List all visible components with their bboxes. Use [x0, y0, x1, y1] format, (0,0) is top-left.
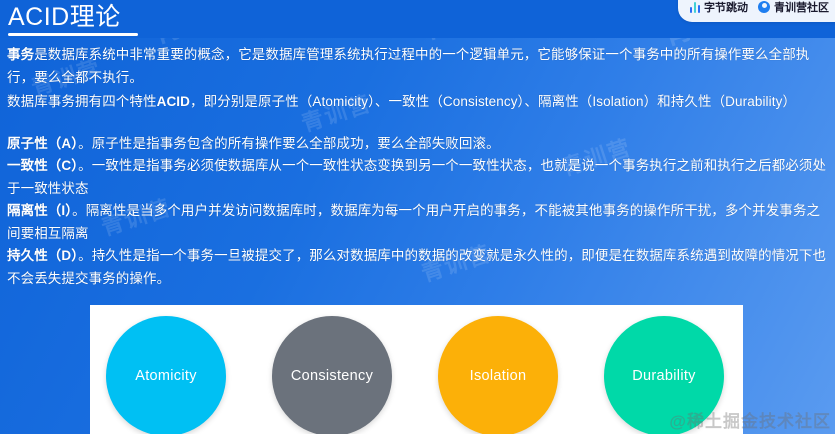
paragraph-text: 。隔离性是当多个用户并发访问数据库时，数据库为每一个用户开启的事务，不能被其他事… [7, 203, 820, 241]
paragraph-lead: 原子性（A） [7, 136, 78, 151]
brand-badge-group: 字节跳动 青训营社区 [678, 0, 835, 22]
title-underline [8, 33, 138, 36]
paragraph-lead: 隔离性（I） [7, 203, 72, 218]
bar-chart-icon [690, 1, 701, 13]
paragraph-text: 是数据库系统中非常重要的概念，它是数据库管理系统执行过程中的一个逻辑单元，它能够… [7, 47, 809, 85]
paragraph-lead: 一致性（C） [7, 158, 78, 173]
acid-circle-group: Atomicity Consistency Isolation Durabili… [90, 305, 743, 434]
paragraph-text: 。原子性是指事务包含的所有操作要么全部成功，要么全部失败回滚。 [78, 136, 500, 151]
paragraph-isolation: 隔离性（I）。隔离性是当多个用户并发访问数据库时，数据库为每一个用户开启的事务，… [7, 200, 829, 245]
circle-label: Isolation [470, 368, 527, 384]
diagram-watermark: @稀土掘金技术社区 [669, 407, 831, 432]
slide-header: ACID理论 字节跳动 青训营社区 [0, 0, 835, 38]
paragraph-intro: 事务是数据库系统中非常重要的概念，它是数据库管理系统执行过程中的一个逻辑单元，它… [7, 44, 829, 89]
acid-diagram-panel: Atomicity Consistency Isolation Durabili… [90, 305, 743, 434]
slide-body: 事务是数据库系统中非常重要的概念，它是数据库管理系统执行过程中的一个逻辑单元，它… [7, 44, 829, 290]
circle-atomicity[interactable]: Atomicity [106, 316, 226, 434]
circle-isolation[interactable]: Isolation [438, 316, 558, 434]
slide-root: 青训营 青训营 青训营 青训营 青训营 青训营 青训营 青训营 稀土掘金 稀土掘… [0, 0, 835, 434]
paragraph-lead: 事务 [7, 47, 34, 62]
circle-label: Atomicity [135, 368, 197, 384]
paragraph-durability: 持久性（D）。持久性是指一个事务一旦被提交了，那么对数据库中的数据的改变就是永久… [7, 245, 829, 290]
paragraph-consistency: 一致性（C）。一致性是指事务必须使数据库从一个一致性状态变换到另一个一致性状态，… [7, 155, 829, 200]
paragraph-prefix: 数据库事务拥有四个特性 [7, 94, 157, 109]
circle-ring-icon [758, 1, 770, 13]
circle-label: Durability [632, 368, 695, 384]
circle-label: Consistency [291, 368, 373, 384]
page-title: ACID理论 [8, 2, 121, 32]
badge-bytedance[interactable]: 字节跳动 [690, 0, 749, 15]
paragraph-atomicity: 原子性（A）。原子性是指事务包含的所有操作要么全部成功，要么全部失败回滚。 [7, 133, 829, 156]
circle-consistency[interactable]: Consistency [272, 316, 392, 434]
paragraph-lead: 持久性（D） [7, 248, 78, 263]
paragraph-acid-definition: 数据库事务拥有四个特性ACID，即分别是原子性（Atomicity）、一致性（C… [7, 91, 829, 114]
paragraph-text: ，即分别是原子性（Atomicity）、一致性（Consistency）、隔离性… [190, 94, 796, 109]
paragraph-text: 。持久性是指一个事务一旦被提交了，那么对数据库中的数据的改变就是永久性的，即便是… [7, 248, 826, 286]
badge-label: 字节跳动 [704, 0, 748, 15]
paragraph-lead: ACID [157, 94, 190, 109]
badge-label: 青训营社区 [774, 0, 829, 15]
badge-community[interactable]: 青训营社区 [758, 0, 829, 15]
paragraph-text: 。一致性是指事务必须使数据库从一个一致性状态变换到另一个一致性状态，也就是说一个… [7, 158, 826, 196]
